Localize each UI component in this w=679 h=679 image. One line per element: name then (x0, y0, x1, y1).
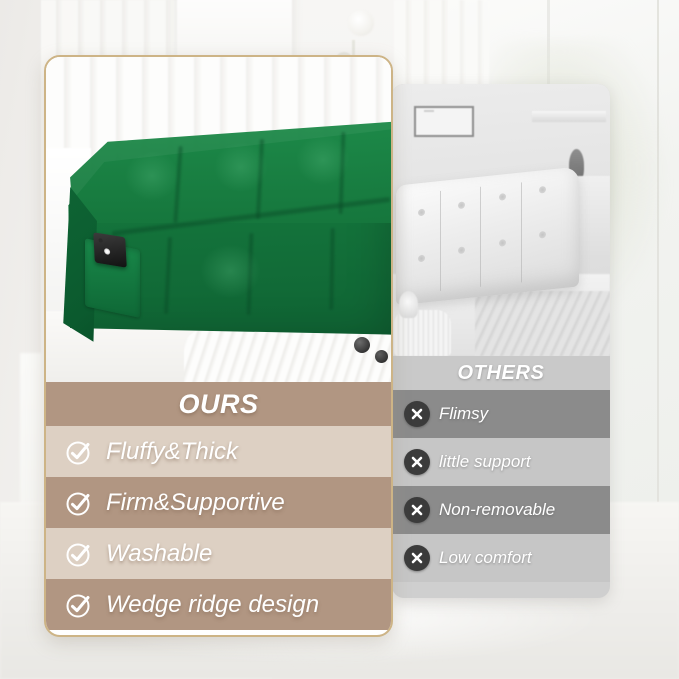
fabric-highlight (125, 151, 180, 201)
ours-header-label: OURS (178, 389, 258, 420)
pillow-tuft (459, 202, 466, 210)
bed-knob-icon (375, 350, 388, 363)
others-comparison-panel: OTHERS Flimsy little support (392, 84, 610, 598)
pillow-tuft (418, 209, 425, 217)
pillow-tuft (459, 247, 466, 255)
pillow-tuft (418, 255, 425, 263)
x-circle-icon (404, 401, 430, 427)
fabric-highlight (296, 135, 351, 185)
others-row-low-comfort: Low comfort (392, 534, 610, 582)
ours-comparison-panel: OURS Fluffy&Thick Firm&Supportive (44, 55, 393, 637)
green-wedge-pillow (63, 119, 391, 347)
flower-icon (348, 10, 374, 36)
others-row-little-support: little support (392, 438, 610, 486)
others-photo-lamp (399, 291, 419, 318)
others-row-label: Flimsy (439, 404, 488, 424)
ours-row-label: Washable (106, 540, 212, 568)
x-circle-icon (404, 545, 430, 571)
ours-row-wedge-ridge-design: Wedge ridge design (46, 579, 391, 630)
pillow-seam (440, 191, 441, 292)
x-circle-icon (404, 497, 430, 523)
ours-header: OURS (46, 382, 391, 426)
ours-product-photo (46, 57, 391, 382)
ours-row-label: Firm&Supportive (106, 489, 285, 517)
phone-in-pocket (93, 232, 127, 267)
others-product-photo (392, 84, 610, 356)
pillow-seam (481, 187, 482, 288)
others-row-label: Non-removable (439, 500, 555, 520)
ours-row-firm-supportive: Firm&Supportive (46, 477, 391, 528)
pillow-seam (521, 182, 522, 283)
ours-row-label: Wedge ridge design (106, 591, 319, 619)
pillow-tuft (499, 194, 506, 202)
others-row-label: Low comfort (439, 548, 532, 568)
picture-frame-inner (424, 110, 434, 111)
others-wedge-pillow (396, 167, 579, 306)
fabric-highlight (214, 142, 269, 192)
others-photo-throw-blanket (475, 291, 610, 356)
ours-row-fluffy-thick: Fluffy&Thick (46, 426, 391, 477)
wall-picture-frame-icon (414, 106, 475, 137)
pillow-tuft (539, 186, 546, 194)
pillow-tuft (499, 239, 506, 247)
others-photo-shelf (532, 111, 606, 122)
pillow-tuft (539, 231, 546, 239)
phone-lens-icon (104, 247, 110, 254)
others-row-non-removable: Non-removable (392, 486, 610, 534)
check-circle-icon (64, 539, 94, 569)
others-header: OTHERS (392, 356, 610, 390)
phone-camera-icon (98, 238, 102, 243)
ours-row-label: Fluffy&Thick (106, 438, 238, 466)
check-circle-icon (64, 437, 94, 467)
check-circle-icon (64, 488, 94, 518)
others-header-label: OTHERS (458, 362, 545, 385)
ours-row-washable: Washable (46, 528, 391, 579)
x-circle-icon (404, 449, 430, 475)
others-row-flimsy: Flimsy (392, 390, 610, 438)
check-circle-icon (64, 590, 94, 620)
others-row-label: little support (439, 452, 531, 472)
